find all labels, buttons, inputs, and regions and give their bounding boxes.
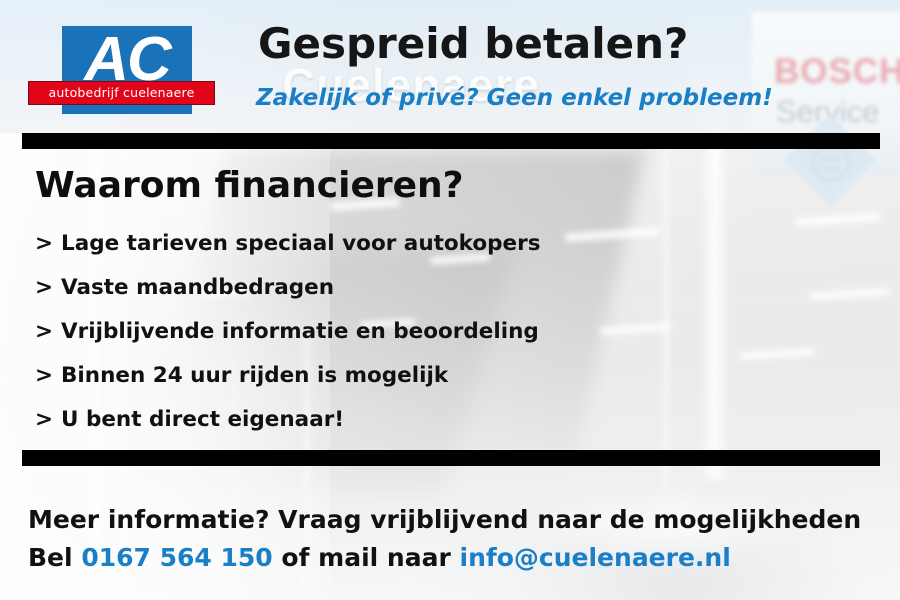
phone-number-link[interactable]: 0167 564 150 bbox=[81, 543, 272, 572]
benefits-list: >Lage tarieven speciaal voor autokopers … bbox=[35, 222, 541, 442]
logo-red-band: autobedrijf cuelenaere bbox=[28, 81, 215, 105]
list-item: >Lage tarieven speciaal voor autokopers bbox=[35, 222, 541, 266]
logo-tagline: autobedrijf cuelenaere bbox=[29, 82, 214, 104]
list-item-label: Binnen 24 uur rijden is mogelijk bbox=[61, 363, 448, 388]
call-prefix-label: Bel bbox=[28, 543, 73, 572]
list-item: >Binnen 24 uur rijden is mogelijk bbox=[35, 354, 541, 398]
list-item: >U bent direct eigenaar! bbox=[35, 398, 541, 442]
company-logo[interactable]: AC autobedrijf cuelenaere bbox=[28, 26, 218, 116]
bullet-marker-icon: > bbox=[35, 407, 53, 432]
bullet-marker-icon: > bbox=[35, 363, 53, 388]
list-item-label: Lage tarieven speciaal voor autokopers bbox=[61, 231, 541, 256]
email-link[interactable]: info@cuelenaere.nl bbox=[460, 543, 731, 572]
footer-info-line: Meer informatie? Vraag vrijblijvend naar… bbox=[28, 503, 861, 537]
list-item-label: U bent direct eigenaar! bbox=[61, 407, 344, 432]
list-item: >Vrijblijvende informatie en beoordeling bbox=[35, 310, 541, 354]
bullet-marker-icon: > bbox=[35, 319, 53, 344]
divider-top bbox=[22, 133, 880, 149]
divider-bottom bbox=[22, 450, 880, 466]
banner-headline: Gespreid betalen? bbox=[258, 18, 688, 70]
finance-promo-banner: BOSCH Service Cuelenaere AC autobedrijf … bbox=[0, 0, 900, 600]
banner-subheadline: Zakelijk of privé? Geen enkel probleem! bbox=[256, 83, 773, 113]
bullet-marker-icon: > bbox=[35, 275, 53, 300]
list-item-label: Vrijblijvende informatie en beoordeling bbox=[61, 319, 539, 344]
list-item-label: Vaste maandbedragen bbox=[61, 275, 334, 300]
section-title: Waarom financieren? bbox=[35, 163, 464, 209]
bullet-marker-icon: > bbox=[35, 231, 53, 256]
bosch-service-sign: BOSCH Service bbox=[752, 10, 900, 175]
bosch-brand-text: BOSCH bbox=[774, 52, 900, 92]
mail-connector-label: of mail naar bbox=[281, 543, 450, 572]
footer-contact-line: Bel 0167 564 150 of mail naar info@cuele… bbox=[28, 541, 731, 575]
list-item: >Vaste maandbedragen bbox=[35, 266, 541, 310]
